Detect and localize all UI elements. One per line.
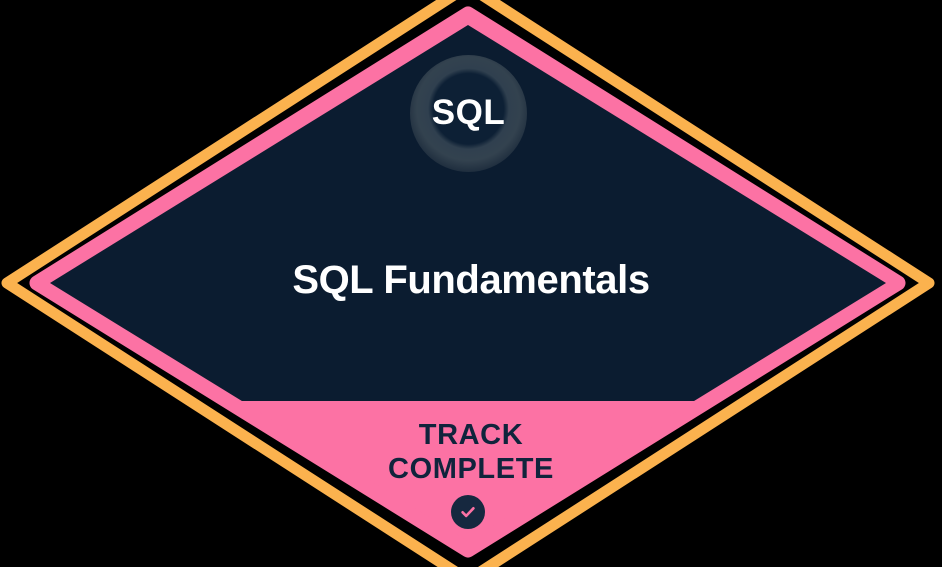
track-badge[interactable]: SQL SQL Fundamentals TRACK COMPLETE (0, 0, 942, 567)
check-mark-icon (451, 495, 485, 529)
sql-chip-label: SQL (432, 95, 505, 130)
sql-chip-icon[interactable]: SQL (410, 55, 527, 172)
